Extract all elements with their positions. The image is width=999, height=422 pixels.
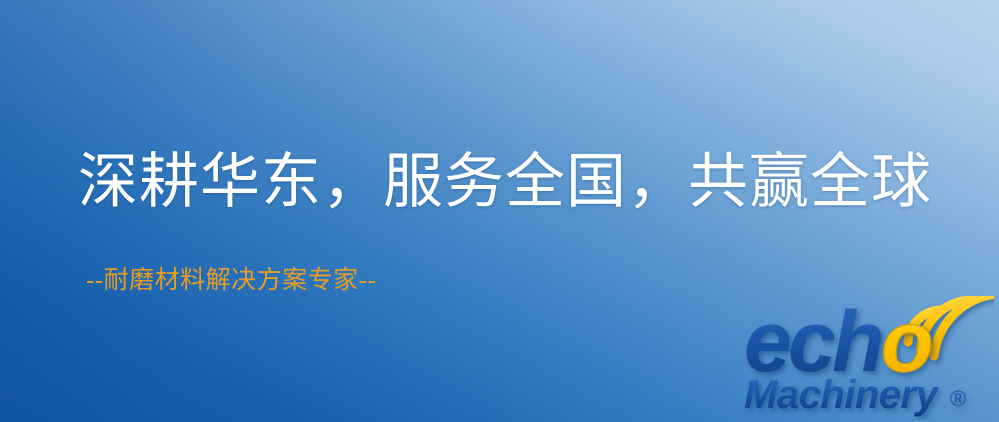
echo-machinery-logo[interactable]: e c h o Machinery ®	[744, 296, 994, 420]
page-title: 深耕华东，服务全国，共赢全球	[78, 152, 932, 212]
logo-wordmark-machinery: Machinery	[744, 373, 940, 417]
hero-banner: 深耕华东，服务全国，共赢全球 --耐磨材料解决方案专家--	[0, 0, 999, 422]
logo-registered-trademark: ®	[950, 386, 966, 411]
page-subtitle: --耐磨材料解决方案专家--	[86, 268, 376, 293]
